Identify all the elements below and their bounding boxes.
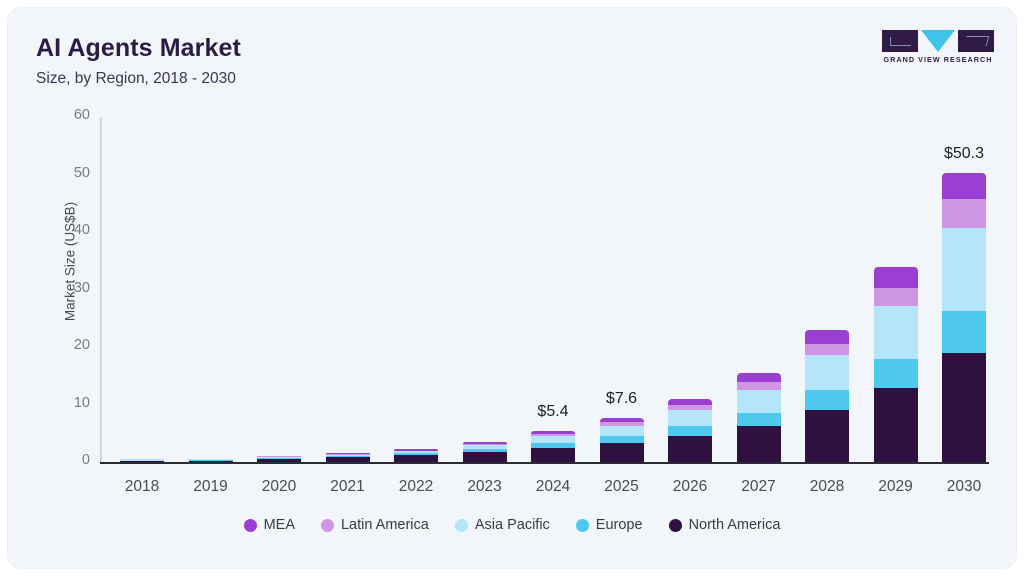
chart-legend: MEALatin AmericaAsia PacificEuropeNorth …	[8, 517, 1016, 533]
legend-swatch-icon	[321, 519, 334, 532]
bar-column[interactable]	[531, 8, 575, 462]
bar-segment-europe[interactable]	[668, 426, 712, 436]
y-axis-title: Market Size (US$B)	[63, 162, 78, 362]
bar-segment-latin-america[interactable]	[600, 422, 644, 425]
bar-column[interactable]	[394, 8, 438, 462]
y-axis-tick-label: 0	[46, 452, 90, 468]
bar-segment-latin-america[interactable]	[874, 288, 918, 306]
x-axis-tick-label: 2025	[588, 478, 656, 496]
bar-segment-north-america[interactable]	[805, 410, 849, 462]
y-axis-tick-label: 60	[46, 107, 90, 123]
y-axis-tick-label: 50	[46, 165, 90, 181]
legend-label: Latin America	[341, 517, 429, 533]
bar-segment-europe[interactable]	[326, 456, 370, 458]
bar-segment-latin-america[interactable]	[531, 434, 575, 436]
bar-segment-europe[interactable]	[394, 453, 438, 455]
bar-segment-asia-pacific[interactable]	[531, 436, 575, 443]
bar-segment-north-america[interactable]	[737, 426, 781, 462]
y-axis-tick-label: 20	[46, 337, 90, 353]
bar-segment-asia-pacific[interactable]	[120, 459, 164, 461]
y-axis-line	[100, 117, 102, 462]
bar-segment-latin-america[interactable]	[805, 344, 849, 356]
legend-label: MEA	[264, 517, 295, 533]
bar-segment-mea[interactable]	[394, 449, 438, 451]
bar-segment-north-america[interactable]	[668, 436, 712, 462]
x-axis-line	[100, 462, 989, 464]
bar-segment-asia-pacific[interactable]	[805, 355, 849, 390]
legend-item-north-america[interactable]: North America	[669, 517, 781, 533]
bar-segment-mea[interactable]	[531, 431, 575, 434]
bar-column[interactable]	[942, 8, 986, 462]
x-axis-tick-label: 2022	[382, 478, 450, 496]
bar-column[interactable]	[463, 8, 507, 462]
bar-segment-latin-america[interactable]	[942, 199, 986, 228]
bar-segment-latin-america[interactable]	[668, 405, 712, 410]
legend-swatch-icon	[669, 519, 682, 532]
bar-segment-europe[interactable]	[737, 413, 781, 427]
bar-segment-europe[interactable]	[531, 443, 575, 448]
bar-segment-asia-pacific[interactable]	[668, 410, 712, 426]
bar-value-label: $50.3	[919, 145, 1009, 163]
bar-segment-north-america[interactable]	[600, 443, 644, 462]
bar-segment-mea[interactable]	[463, 442, 507, 444]
x-axis-tick-label: 2023	[451, 478, 519, 496]
bar-segment-asia-pacific[interactable]	[600, 426, 644, 436]
x-axis-tick-label: 2024	[519, 478, 587, 496]
x-axis-tick-label: 2021	[314, 478, 382, 496]
x-axis-tick-label: 2026	[656, 478, 724, 496]
bar-segment-mea[interactable]	[600, 418, 644, 422]
bar-column[interactable]	[668, 8, 712, 462]
bar-value-label: $7.6	[577, 390, 667, 408]
y-axis-tick-label: 10	[46, 395, 90, 411]
bar-segment-mea[interactable]	[737, 373, 781, 382]
bar-segment-asia-pacific[interactable]	[737, 390, 781, 413]
bar-segment-europe[interactable]	[600, 436, 644, 443]
legend-swatch-icon	[576, 519, 589, 532]
bar-segment-mea[interactable]	[805, 330, 849, 344]
bar-column[interactable]	[120, 8, 164, 462]
x-axis-tick-label: 2029	[862, 478, 930, 496]
legend-item-latin-america[interactable]: Latin America	[321, 517, 429, 533]
bar-segment-mea[interactable]	[874, 267, 918, 289]
bar-column[interactable]	[805, 8, 849, 462]
legend-item-mea[interactable]: MEA	[244, 517, 295, 533]
bar-column[interactable]	[189, 8, 233, 462]
bar-column[interactable]	[257, 8, 301, 462]
chart-plot-area: Market Size (US$B) 0102030405060 2018201…	[8, 8, 1016, 568]
y-axis-tick-label: 40	[46, 222, 90, 238]
legend-swatch-icon	[455, 519, 468, 532]
legend-item-europe[interactable]: Europe	[576, 517, 643, 533]
legend-label: North America	[689, 517, 781, 533]
bar-segment-asia-pacific[interactable]	[463, 445, 507, 449]
bar-segment-north-america[interactable]	[531, 448, 575, 462]
bar-segment-north-america[interactable]	[463, 452, 507, 462]
bar-segment-north-america[interactable]	[942, 353, 986, 462]
bar-column[interactable]	[874, 8, 918, 462]
x-axis-tick-label: 2027	[725, 478, 793, 496]
bar-segment-asia-pacific[interactable]	[942, 228, 986, 311]
x-axis-tick-label: 2019	[177, 478, 245, 496]
bar-segment-europe[interactable]	[805, 390, 849, 410]
x-axis-tick-label: 2018	[108, 478, 176, 496]
bar-segment-asia-pacific[interactable]	[189, 459, 233, 461]
bar-segment-asia-pacific[interactable]	[874, 306, 918, 359]
bar-segment-latin-america[interactable]	[257, 456, 301, 458]
bar-column[interactable]	[326, 8, 370, 462]
bar-segment-north-america[interactable]	[874, 388, 918, 462]
x-axis-tick-label: 2030	[930, 478, 998, 496]
x-axis-tick-label: 2028	[793, 478, 861, 496]
bar-column[interactable]	[737, 8, 781, 462]
bar-segment-north-america[interactable]	[394, 455, 438, 462]
bar-segment-mea[interactable]	[942, 173, 986, 199]
legend-label: Europe	[596, 517, 643, 533]
bar-segment-europe[interactable]	[463, 449, 507, 452]
legend-item-asia-pacific[interactable]: Asia Pacific	[455, 517, 550, 533]
legend-label: Asia Pacific	[475, 517, 550, 533]
chart-card: AI Agents Market Size, by Region, 2018 -…	[8, 8, 1016, 568]
y-axis-tick-label: 30	[46, 280, 90, 296]
bar-segment-europe[interactable]	[874, 359, 918, 388]
x-axis-tick-label: 2020	[245, 478, 313, 496]
legend-swatch-icon	[244, 519, 257, 532]
bar-segment-latin-america[interactable]	[737, 382, 781, 389]
bar-segment-europe[interactable]	[942, 311, 986, 353]
bar-segment-mea[interactable]	[668, 399, 712, 405]
